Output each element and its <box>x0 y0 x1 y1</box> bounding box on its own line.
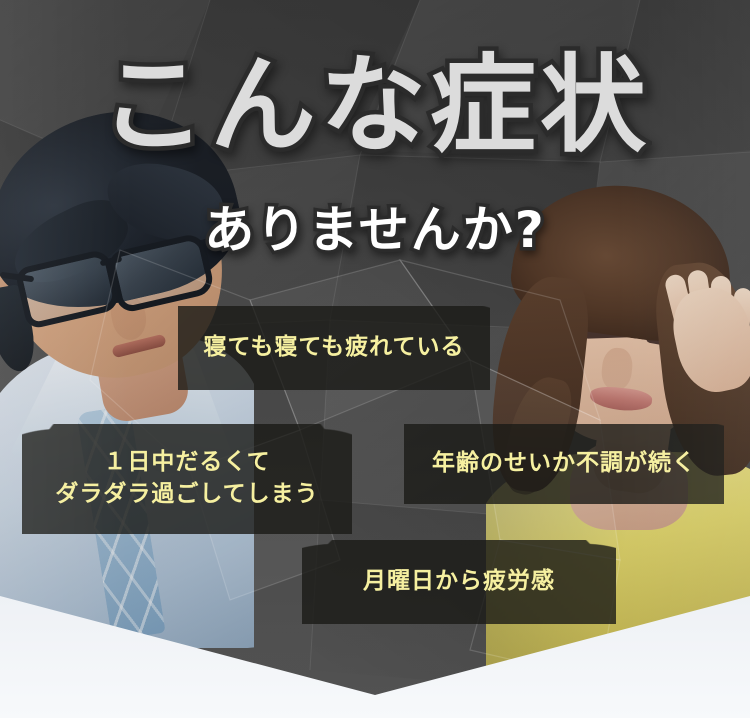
symptom-bubble-2: １日中だるくて ダラダラ過ごしてしまう <box>22 424 352 534</box>
symptom-text-3: 年齢のせいか不調が続く <box>426 448 702 480</box>
symptom-text-2: １日中だるくて ダラダラ過ごしてしまう <box>49 447 324 510</box>
symptom-bubble-1: 寝ても寝ても疲れている <box>178 306 490 390</box>
promo-banner: こんな症状 ありませんか? 寝ても寝ても疲れている １日中だるくて ダラダラ過ご… <box>0 0 750 718</box>
symptom-text-1: 寝ても寝ても疲れている <box>197 332 470 364</box>
bottom-chevron-wedge <box>0 588 750 718</box>
headline-container: こんな症状 <box>0 52 750 160</box>
page-title: こんな症状 <box>100 52 650 160</box>
page-subtitle: ありませんか? <box>204 190 546 262</box>
subheadline-container: ありませんか? <box>0 190 750 262</box>
symptom-bubble-3: 年齢のせいか不調が続く <box>404 424 724 504</box>
